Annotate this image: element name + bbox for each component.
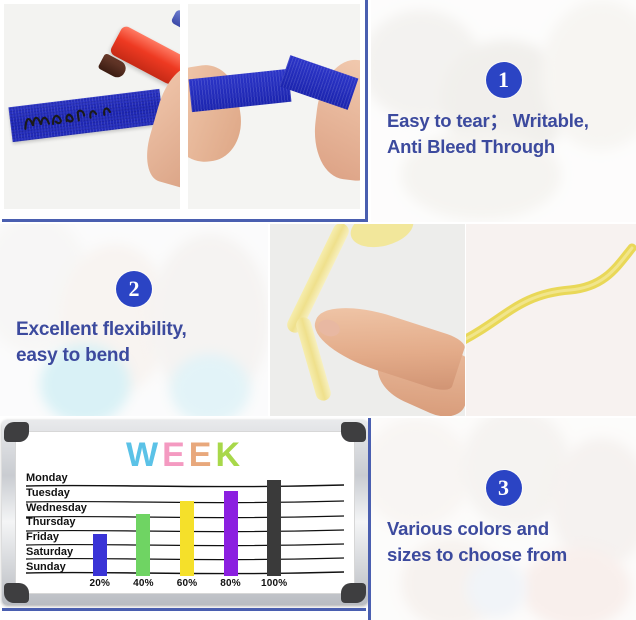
x-label-80: 80% — [214, 578, 248, 589]
feature-3-content: 3 Various colors and sizes to choose fro… — [371, 418, 636, 620]
bar-20 — [93, 534, 107, 576]
row-bottom: WEEK — [0, 418, 636, 620]
week-bar-chart: Monday Tuesday Wednesday Thursday Friday… — [20, 472, 350, 589]
bar-100 — [267, 480, 281, 576]
feature-panel-1: 1 Easy to tear； Writable, Anti Bleed Thr… — [371, 0, 636, 222]
feature-2-line-2: easy to bend — [16, 343, 130, 369]
x-label-20: 20% — [83, 578, 117, 589]
feature-1-line-2: Anti Bleed Through — [387, 134, 555, 160]
week-letter-k: K — [215, 436, 244, 475]
x-label-40: 40% — [126, 578, 160, 589]
bar-60 — [180, 501, 194, 576]
photo-curved-yellow-tape — [466, 224, 636, 416]
photo-hands-tearing-blue-tape — [188, 4, 360, 209]
row-top: 1 Easy to tear； Writable, Anti Bleed Thr… — [0, 0, 636, 222]
whiteboard: WEEK — [2, 420, 368, 605]
week-letter-e2: E — [189, 436, 216, 475]
photo-blue-tape-written-with-red-marker — [4, 4, 180, 209]
feature-1-content: 1 Easy to tear； Writable, Anti Bleed Thr… — [371, 0, 636, 222]
feature-2-line-1: Excellent flexibility, — [16, 317, 187, 343]
feature-panel-2: 2 Excellent flexibility, easy to bend — [0, 224, 268, 416]
bar-80 — [224, 491, 238, 576]
number-badge-icon-3: 3 — [486, 470, 522, 506]
feature-3-line-2: sizes to choose from — [387, 542, 567, 568]
x-label-100: 100% — [257, 578, 291, 589]
row-middle: 2 Excellent flexibility, easy to bend — [0, 224, 636, 416]
number-badge-icon-2: 2 — [116, 271, 152, 307]
feature-panel-3: 3 Various colors and sizes to choose fro… — [371, 418, 636, 620]
week-letter-e1: E — [162, 436, 189, 475]
feature-1-line-1: Easy to tear； Writable, — [387, 108, 589, 134]
marker-cap-icon — [170, 9, 180, 38]
yellow-tape-roll-icon — [347, 224, 418, 253]
blue-rule-bottom — [2, 608, 366, 611]
photo-finger-bending-yellow-tape — [270, 224, 465, 416]
feature-3-line-1: Various colors and — [387, 516, 549, 542]
whiteboard-corner-top-right — [341, 422, 366, 442]
x-label-60: 60% — [170, 578, 204, 589]
chart-title: WEEK — [16, 436, 354, 475]
chart-bars — [78, 472, 296, 576]
whiteboard-surface: WEEK — [15, 431, 355, 594]
curved-yellow-tape-icon — [466, 224, 636, 416]
infographic-page: 1 Easy to tear； Writable, Anti Bleed Thr… — [0, 0, 636, 620]
whiteboard-corner-top-left — [4, 422, 29, 442]
bar-40 — [136, 514, 150, 576]
red-marker-icon — [109, 25, 180, 88]
whiteboard-corner-bottom-right — [341, 583, 366, 603]
week-letter-w: W — [126, 436, 162, 475]
whiteboard-corner-bottom-left — [4, 583, 29, 603]
number-badge-icon-1: 1 — [486, 62, 522, 98]
feature-2-content: 2 Excellent flexibility, easy to bend — [0, 224, 268, 416]
